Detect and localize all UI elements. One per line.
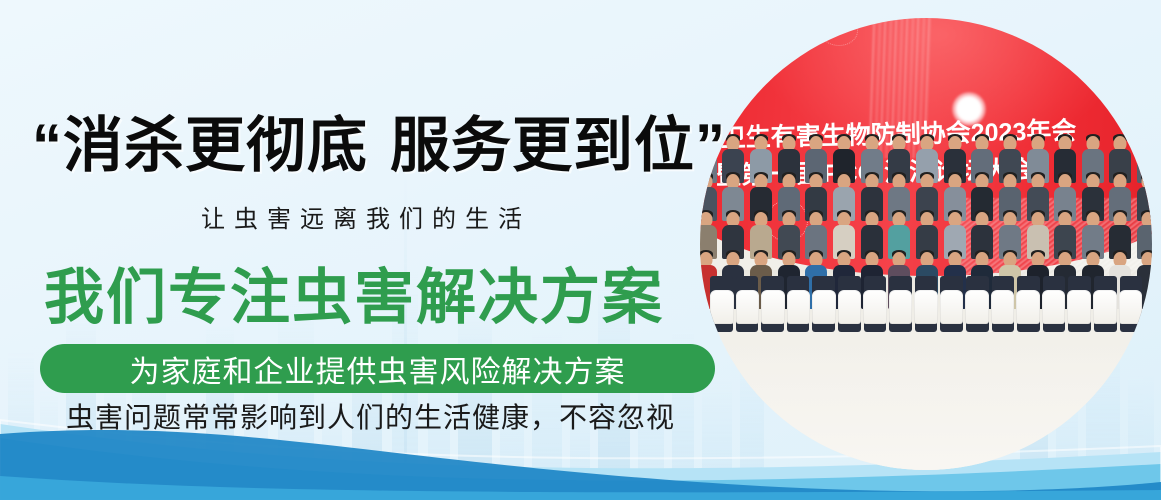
headline-part2: 服务更到位” (390, 112, 726, 179)
page-title: “消杀更彻底服务更到位” (32, 116, 726, 176)
conference-photo-inner: 防制协会 市卫生有害生物防制协会2023年会 暨第一届 PCO 江淮论坛大会 (700, 18, 1152, 470)
conference-photo: 防制协会 市卫生有害生物防制协会2023年会 暨第一届 PCO 江淮论坛大会 (700, 18, 1152, 470)
seat-row (710, 290, 1142, 324)
photo-bottom-fade (700, 350, 1152, 470)
service-pill-label: 为家庭和企业提供虫害风险解决方案 (40, 344, 715, 393)
tagline: 虫害问题常常影响到人们的生活健康，不容忽视 (66, 404, 675, 432)
promo-banner: “消杀更彻底服务更到位” 让虫害远离我们的生活 我们专注虫害解决方案 为家庭和企… (0, 0, 1161, 500)
association-logo-text: 防制协会 (700, 92, 737, 108)
subtitle: 让虫害远离我们的生活 (201, 208, 531, 232)
headline-part1: “消杀更彻底 (32, 112, 368, 179)
green-headline: 我们专注虫害解决方案 (44, 268, 664, 328)
service-pill: 为家庭和企业提供虫害风险解决方案 (40, 344, 715, 393)
stage-emblem-top (820, 18, 858, 46)
